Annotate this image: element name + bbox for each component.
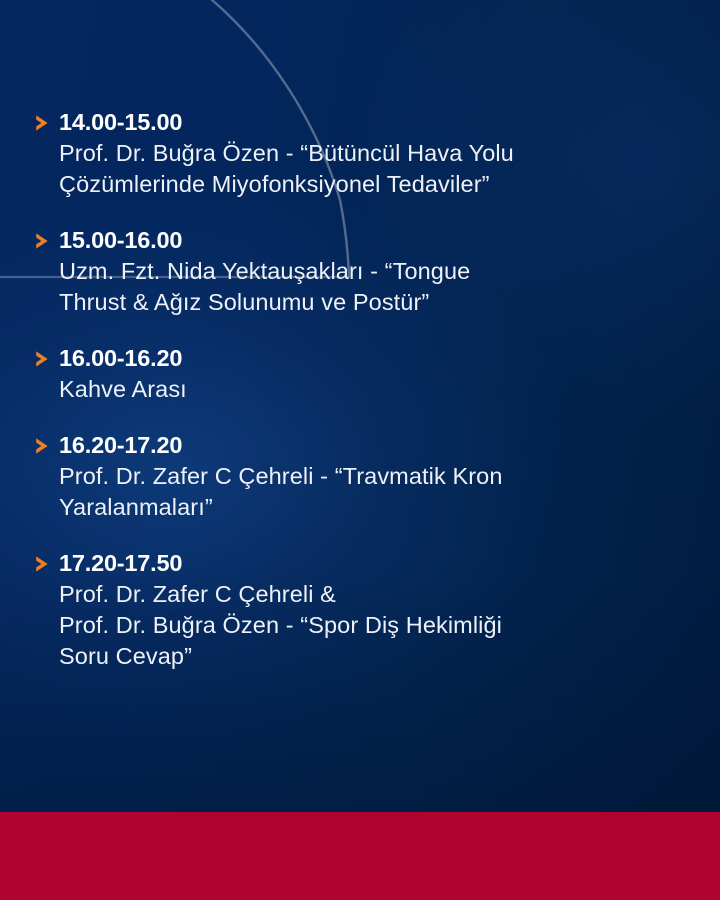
agenda-item-time: 15.00-16.00 <box>59 224 680 256</box>
chevron-right-icon <box>35 114 51 132</box>
agenda-item-description-line: Soru Cevap” <box>59 641 680 672</box>
agenda-item: 16.00-16.20 Kahve Arası <box>35 342 680 405</box>
agenda-item-body: 16.20-17.20 Prof. Dr. Zafer C Çehreli - … <box>35 429 680 523</box>
chevron-right-icon <box>35 555 51 573</box>
agenda-item-description-line: Prof. Dr. Zafer C Çehreli & <box>59 579 680 610</box>
agenda-item-time: 16.20-17.20 <box>59 429 680 461</box>
agenda-item-time: 17.20-17.50 <box>59 547 680 579</box>
agenda-item-description-line: Prof. Dr. Zafer C Çehreli - “Travmatik K… <box>59 461 680 492</box>
agenda-item: 17.20-17.50 Prof. Dr. Zafer C Çehreli & … <box>35 547 680 672</box>
chevron-right-icon <box>35 350 51 368</box>
red-footer-band <box>0 812 720 900</box>
agenda-item-description-line: Yaralanmaları” <box>59 492 680 523</box>
agenda-item-description-line: Thrust & Ağız Solunumu ve Postür” <box>59 287 680 318</box>
agenda-item-description-line: Uzm. Fzt. Nida Yektauşakları - “Tongue <box>59 256 680 287</box>
agenda-item-body: 16.00-16.20 Kahve Arası <box>35 342 680 405</box>
agenda-slide: 14.00-15.00 Prof. Dr. Buğra Özen - “Bütü… <box>0 0 720 900</box>
agenda-item-description-line: Çözümlerinde Miyofonksiyonel Tedaviler” <box>59 169 680 200</box>
agenda-item: 15.00-16.00 Uzm. Fzt. Nida Yektauşakları… <box>35 224 680 318</box>
agenda-item-time: 14.00-15.00 <box>59 106 680 138</box>
agenda-item-description-line: Kahve Arası <box>59 374 680 405</box>
agenda-item: 16.20-17.20 Prof. Dr. Zafer C Çehreli - … <box>35 429 680 523</box>
agenda-list: 14.00-15.00 Prof. Dr. Buğra Özen - “Bütü… <box>35 106 680 672</box>
agenda-item-body: 15.00-16.00 Uzm. Fzt. Nida Yektauşakları… <box>35 224 680 318</box>
agenda-item-body: 14.00-15.00 Prof. Dr. Buğra Özen - “Bütü… <box>35 106 680 200</box>
agenda-item-description-line: Prof. Dr. Buğra Özen - “Spor Diş Hekimli… <box>59 610 680 641</box>
agenda-item-time: 16.00-16.20 <box>59 342 680 374</box>
agenda-item-body: 17.20-17.50 Prof. Dr. Zafer C Çehreli & … <box>35 547 680 672</box>
chevron-right-icon <box>35 437 51 455</box>
agenda-item-description-line: Prof. Dr. Buğra Özen - “Bütüncül Hava Yo… <box>59 138 680 169</box>
agenda-item: 14.00-15.00 Prof. Dr. Buğra Özen - “Bütü… <box>35 106 680 200</box>
chevron-right-icon <box>35 232 51 250</box>
